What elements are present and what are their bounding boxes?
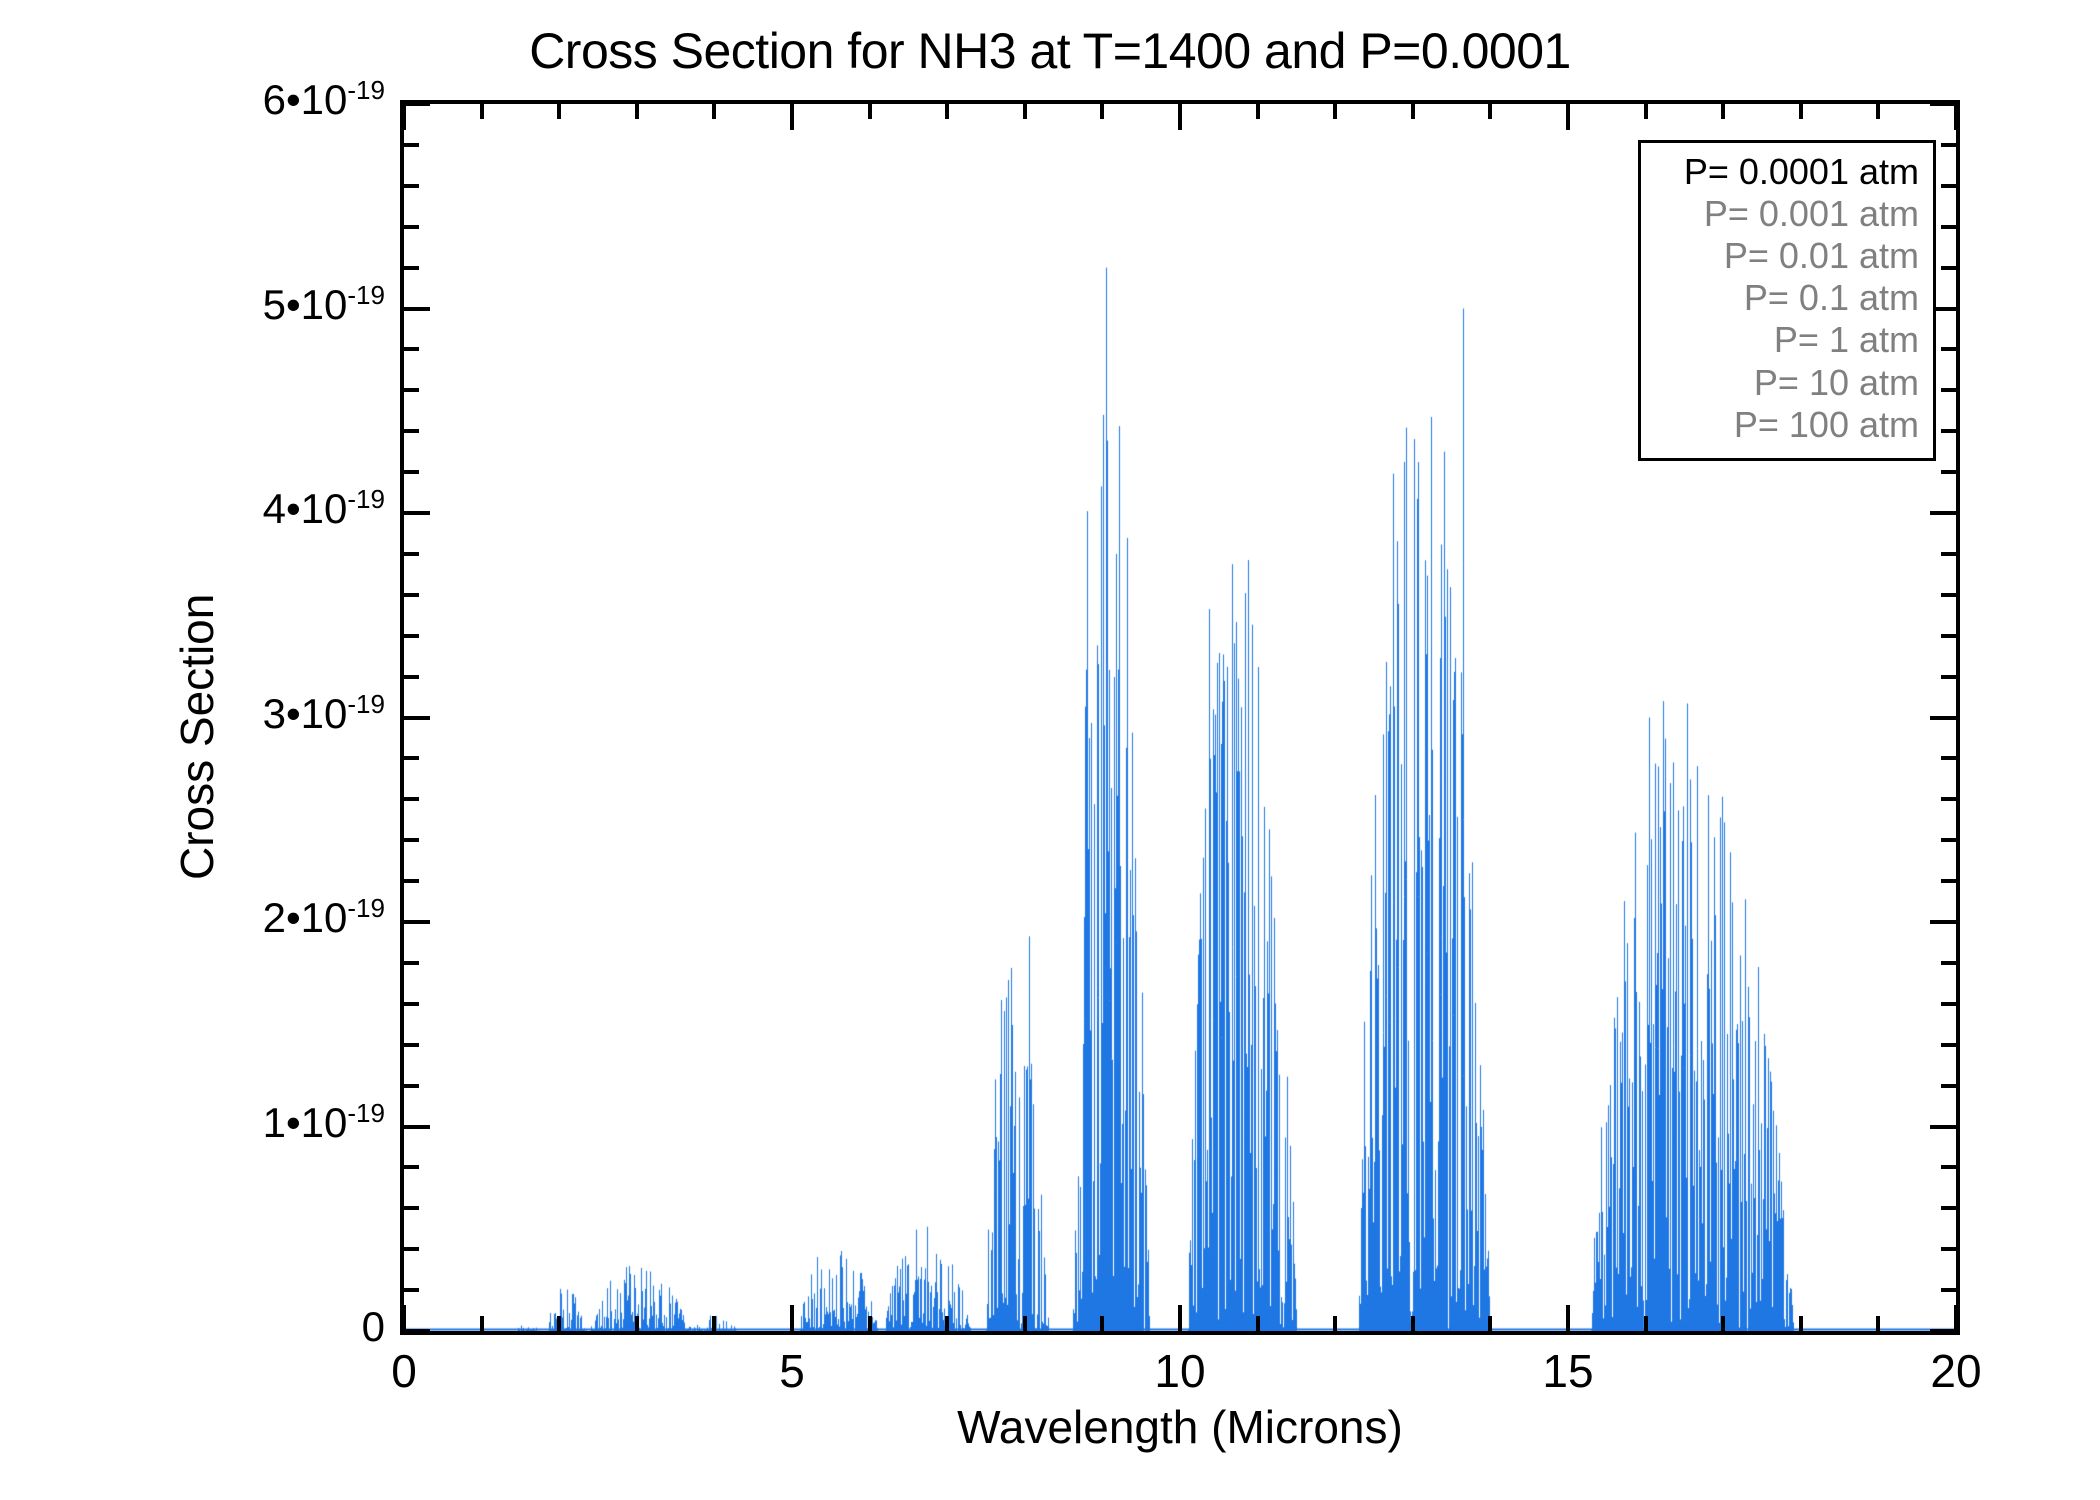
legend: P= 0.0001 atmP= 0.001 atmP= 0.01 atmP= 0… xyxy=(1638,140,1936,461)
axis-tick xyxy=(1799,1316,1803,1331)
legend-item-0[interactable]: P= 0.0001 atm xyxy=(1655,151,1919,193)
axis-tick xyxy=(404,1125,430,1129)
x-tick-label-text: 5 xyxy=(779,1345,805,1397)
axis-tick xyxy=(404,470,419,474)
axis-tick xyxy=(1941,1288,1956,1292)
axis-tick xyxy=(404,388,419,392)
axis-tick xyxy=(1941,266,1956,270)
axis-tick xyxy=(1941,347,1956,351)
axis-tick xyxy=(404,1165,419,1169)
axis-tick xyxy=(1333,104,1337,119)
axis-tick xyxy=(404,961,419,965)
axis-tick xyxy=(404,1288,419,1292)
axis-tick xyxy=(1941,470,1956,474)
axis-tick xyxy=(1941,1247,1956,1251)
y-tick-label-text: 3•10-19 xyxy=(263,693,385,735)
axis-tick xyxy=(1100,104,1104,119)
axis-tick xyxy=(404,552,419,556)
axis-tick xyxy=(790,1305,794,1331)
axis-tick xyxy=(404,675,419,679)
x-tick-label-text: 0 xyxy=(391,1345,417,1397)
axis-tick xyxy=(1100,1316,1104,1331)
axis-tick xyxy=(404,593,419,597)
axis-tick xyxy=(1566,1305,1570,1331)
axis-tick xyxy=(404,143,419,147)
legend-item-3[interactable]: P= 0.1 atm xyxy=(1655,277,1919,319)
axis-tick xyxy=(1488,104,1492,119)
axis-tick xyxy=(712,104,716,119)
axis-tick xyxy=(712,1316,716,1331)
axis-tick xyxy=(1941,797,1956,801)
axis-tick xyxy=(1941,429,1956,433)
axis-tick xyxy=(790,104,794,130)
legend-item-5[interactable]: P= 10 atm xyxy=(1655,362,1919,404)
axis-tick xyxy=(1721,1316,1725,1331)
axis-tick xyxy=(1178,1305,1182,1331)
axis-tick xyxy=(1941,1084,1956,1088)
axis-tick xyxy=(1930,920,1956,924)
axis-tick xyxy=(557,1316,561,1331)
axis-tick xyxy=(1333,1316,1337,1331)
axis-tick xyxy=(1876,104,1880,119)
axis-tick xyxy=(404,797,419,801)
axis-tick xyxy=(1941,634,1956,638)
axis-tick xyxy=(404,184,419,188)
axis-tick xyxy=(404,102,430,106)
axis-tick xyxy=(1023,1316,1027,1331)
x-tick-label: 10 xyxy=(1110,1348,1250,1394)
axis-tick xyxy=(1930,511,1956,515)
axis-tick xyxy=(404,429,419,433)
axis-tick xyxy=(1721,104,1725,119)
axis-tick xyxy=(404,266,419,270)
x-tick-label: 0 xyxy=(334,1348,474,1394)
axis-tick xyxy=(1566,104,1570,130)
axis-tick xyxy=(1930,102,1956,106)
legend-item-2[interactable]: P= 0.01 atm xyxy=(1655,235,1919,277)
axis-tick xyxy=(404,1043,419,1047)
axis-tick xyxy=(404,225,419,229)
axis-tick xyxy=(1876,1316,1880,1331)
axis-tick xyxy=(868,1316,872,1331)
axis-tick xyxy=(945,1316,949,1331)
axis-tick xyxy=(404,634,419,638)
x-tick-label-text: 20 xyxy=(1930,1345,1981,1397)
axis-tick xyxy=(404,307,430,311)
axis-tick xyxy=(1256,1316,1260,1331)
axis-tick xyxy=(1023,104,1027,119)
axis-tick xyxy=(1941,838,1956,842)
y-tick-label-text: 4•10-19 xyxy=(263,488,385,530)
axis-tick xyxy=(1930,1329,1956,1333)
axis-tick xyxy=(1954,104,1958,130)
axis-tick xyxy=(1941,225,1956,229)
y-tick-label-text: 6•10-19 xyxy=(263,79,385,121)
axis-tick xyxy=(404,511,430,515)
legend-item-4[interactable]: P= 1 atm xyxy=(1655,319,1919,361)
axis-tick xyxy=(404,920,430,924)
axis-tick xyxy=(1941,675,1956,679)
axis-tick xyxy=(1941,1165,1956,1169)
axis-tick xyxy=(402,104,406,130)
legend-item-6[interactable]: P= 100 atm xyxy=(1655,404,1919,446)
axis-tick xyxy=(1799,104,1803,119)
x-tick-label: 15 xyxy=(1498,1348,1638,1394)
axis-tick xyxy=(404,879,419,883)
x-tick-label-text: 10 xyxy=(1154,1345,1205,1397)
axis-tick xyxy=(1954,1305,1958,1331)
axis-tick xyxy=(1941,879,1956,883)
axis-tick xyxy=(480,1316,484,1331)
axis-tick xyxy=(404,838,419,842)
axis-tick xyxy=(1488,1316,1492,1331)
axis-tick xyxy=(1411,104,1415,119)
axis-tick xyxy=(635,1316,639,1331)
axis-tick xyxy=(480,104,484,119)
axis-tick xyxy=(404,756,419,760)
y-tick-label-text: 2•10-19 xyxy=(263,897,385,939)
axis-tick xyxy=(1644,1316,1648,1331)
axis-tick xyxy=(1941,143,1956,147)
axis-tick xyxy=(404,1206,419,1210)
axis-tick xyxy=(1930,716,1956,720)
axis-tick xyxy=(402,1305,406,1331)
axis-tick xyxy=(1941,184,1956,188)
axis-tick xyxy=(1411,1316,1415,1331)
axis-tick xyxy=(1941,1206,1956,1210)
axis-tick xyxy=(1941,552,1956,556)
axis-tick xyxy=(404,347,419,351)
axis-tick xyxy=(1941,756,1956,760)
axis-tick xyxy=(1941,593,1956,597)
axis-tick xyxy=(868,104,872,119)
x-tick-label: 5 xyxy=(722,1348,862,1394)
axis-tick xyxy=(1941,388,1956,392)
x-tick-label-text: 15 xyxy=(1542,1345,1593,1397)
axis-tick xyxy=(404,1084,419,1088)
axis-tick xyxy=(404,1329,430,1333)
axis-tick xyxy=(404,1002,419,1006)
axis-tick xyxy=(1930,1125,1956,1129)
y-tick-label-text: 1•10-19 xyxy=(263,1102,385,1144)
axis-tick xyxy=(557,104,561,119)
legend-item-1[interactable]: P= 0.001 atm xyxy=(1655,193,1919,235)
x-tick-label: 20 xyxy=(1886,1348,2026,1394)
axis-tick xyxy=(1941,961,1956,965)
axis-tick xyxy=(1644,104,1648,119)
axis-tick xyxy=(1941,1043,1956,1047)
axis-tick xyxy=(404,1247,419,1251)
figure-root: Cross Section for NH3 at T=1400 and P=0.… xyxy=(0,0,2100,1500)
axis-tick xyxy=(404,716,430,720)
axis-tick xyxy=(1178,104,1182,130)
y-axis-title: Cross Section xyxy=(170,594,224,880)
page-title: Cross Section for NH3 at T=1400 and P=0.… xyxy=(0,22,2100,80)
x-axis-title: Wavelength (Microns) xyxy=(400,1400,1960,1454)
axis-tick xyxy=(635,104,639,119)
axis-tick xyxy=(945,104,949,119)
axis-tick xyxy=(1256,104,1260,119)
y-tick-label-text: 5•10-19 xyxy=(263,284,385,326)
axis-tick xyxy=(1941,1002,1956,1006)
y-tick-label-text: 0 xyxy=(362,1306,385,1348)
